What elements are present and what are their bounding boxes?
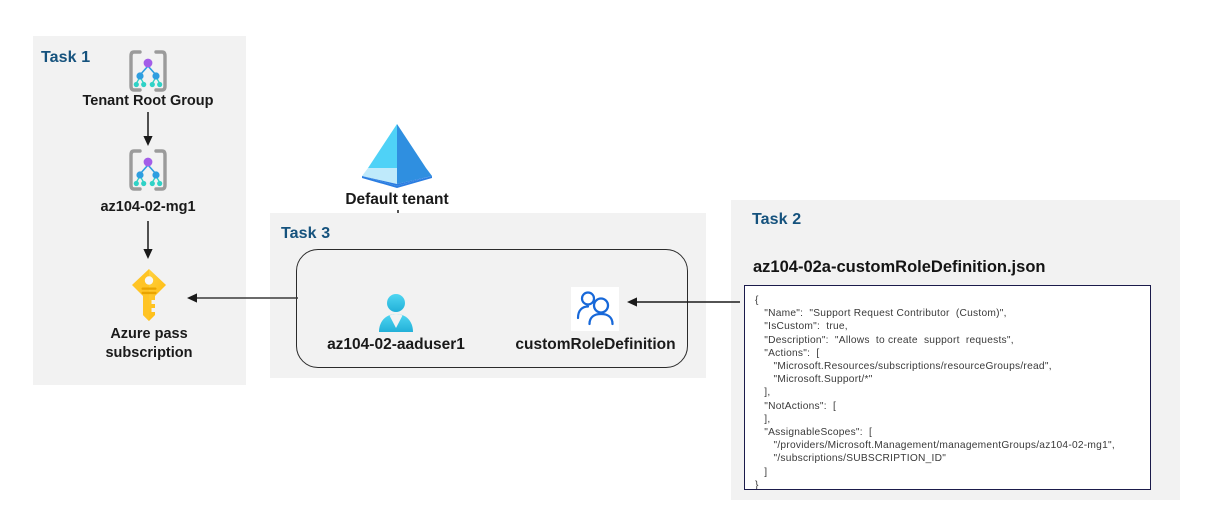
management-group-icon (124, 49, 172, 93)
json-file-name: az104-02a-customRoleDefinition.json (753, 258, 1045, 277)
json-content-box: { "Name": "Support Request Contributor (… (744, 285, 1151, 490)
subscription-key-icon (126, 268, 172, 324)
azure-ad-tenant-icon (358, 122, 436, 188)
diagram-canvas: Task 1 Tenant Root Group (0, 0, 1212, 522)
task1-label: Task 1 (41, 49, 90, 67)
management-group-icon (124, 148, 172, 192)
default-tenant-label: Default tenant (297, 190, 497, 209)
json-code: { "Name": "Support Request Contributor (… (755, 294, 1140, 490)
task2-label: Task 2 (752, 211, 801, 229)
user-icon (374, 292, 418, 336)
aaduser1-label: az104-02-aaduser1 (306, 335, 486, 354)
tenant-root-group-label: Tenant Root Group (48, 92, 248, 111)
mg1-label: az104-02-mg1 (48, 198, 248, 217)
customroledefinition-label: customRoleDefinition (498, 335, 693, 354)
arrow-task3-to-subscription (186, 290, 302, 306)
role-definition-icon (571, 287, 619, 331)
arrow-root-to-mg1 (140, 112, 156, 148)
arrow-json-to-roledefinition (626, 294, 742, 310)
subscription-label: Azure pass subscription (49, 325, 249, 363)
arrow-mg1-to-subscription (140, 221, 156, 261)
task3-label: Task 3 (281, 225, 330, 243)
